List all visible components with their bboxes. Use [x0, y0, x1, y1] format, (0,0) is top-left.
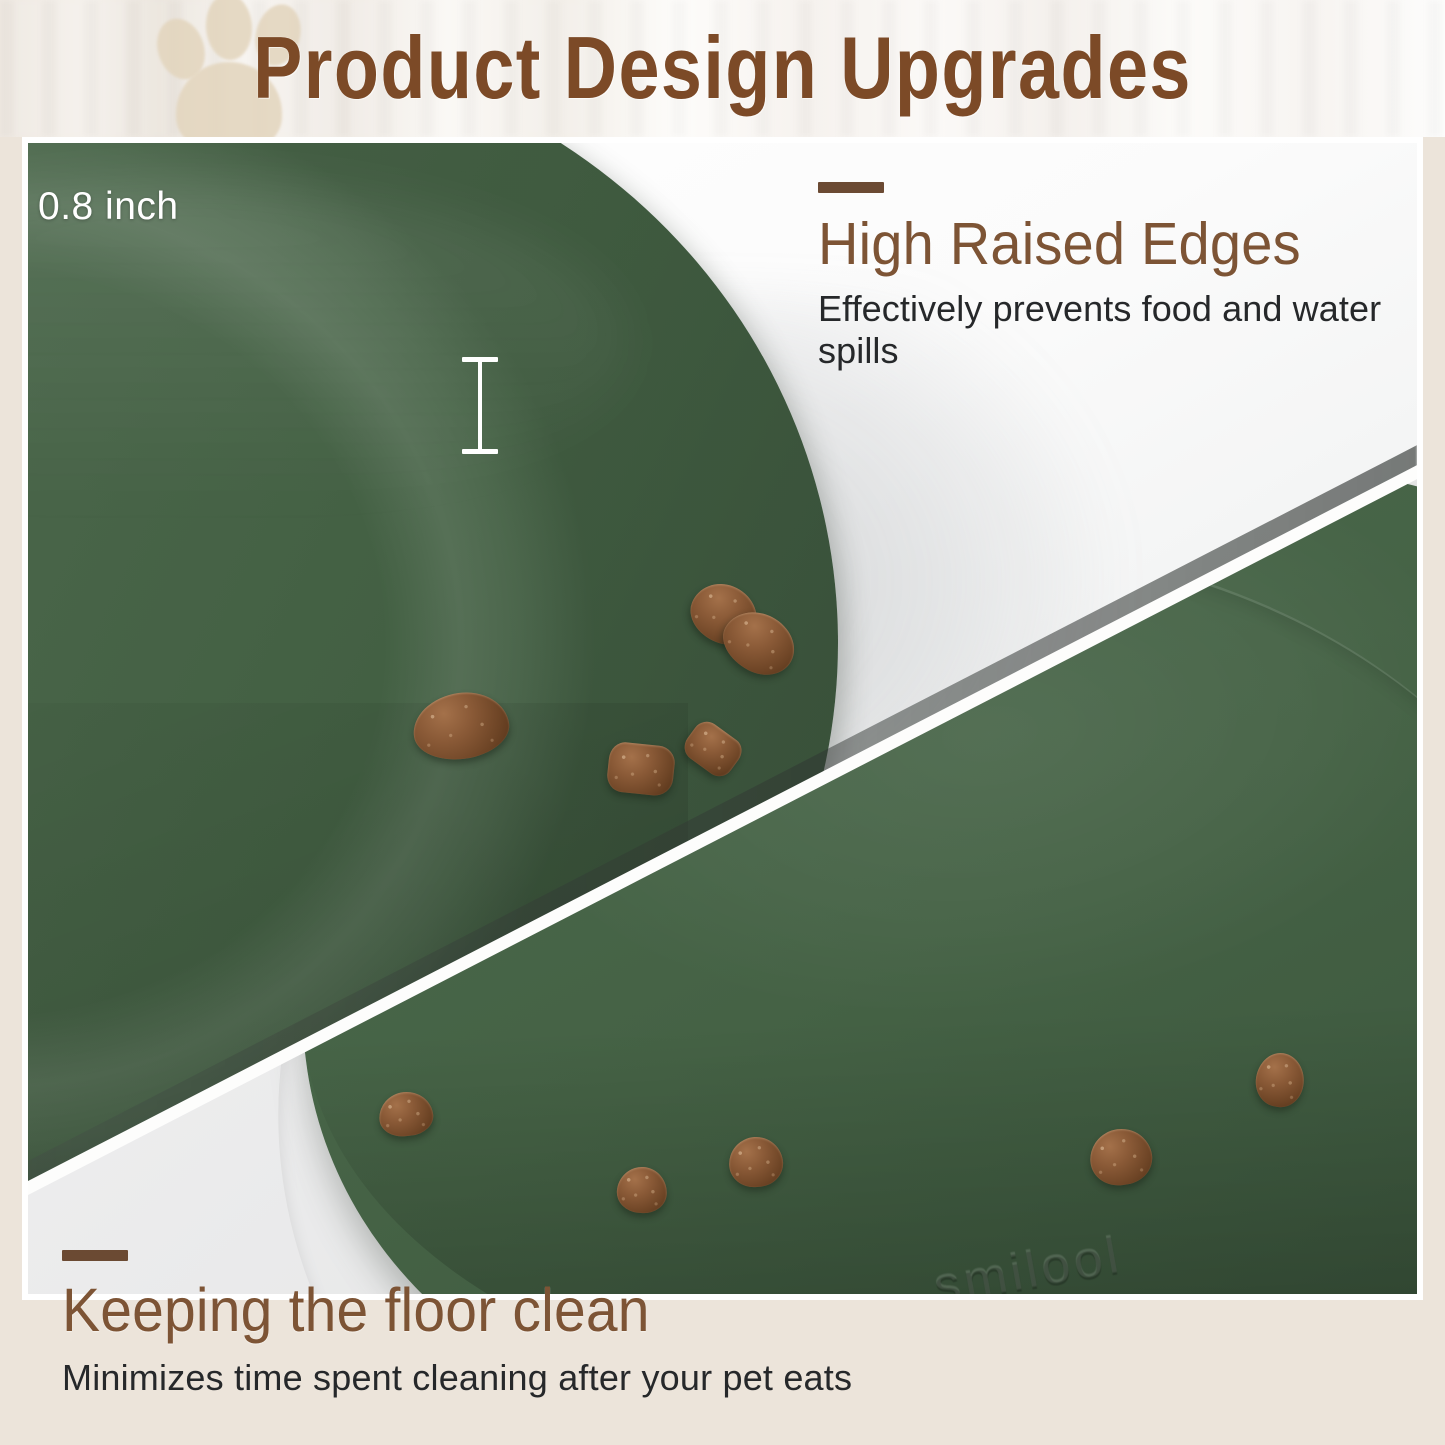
- accent-dash-icon: [62, 1250, 128, 1261]
- caliper-tick-bottom: [462, 449, 498, 454]
- page-title: Product Design Upgrades: [22, 0, 1424, 137]
- accent-dash-icon: [818, 182, 884, 193]
- callout-title: High Raised Edges: [818, 209, 1418, 278]
- callout-subtitle: Minimizes time spent cleaning after your…: [62, 1357, 1262, 1399]
- callout-keeping-floor-clean: Keeping the floor clean Minimizes time s…: [62, 1250, 1262, 1399]
- header-banner: Product Design Upgrades: [0, 0, 1445, 137]
- dimension-caliper-icon: [428, 341, 608, 481]
- callout-high-raised-edges: High Raised Edges Effectively prevents f…: [818, 182, 1418, 372]
- kibble-piece: [606, 741, 677, 798]
- callout-title: Keeping the floor clean: [62, 1275, 1262, 1346]
- caliper-stem: [478, 359, 482, 453]
- callout-subtitle: Effectively prevents food and water spil…: [818, 288, 1398, 372]
- dimension-label: 0.8 inch: [38, 185, 218, 229]
